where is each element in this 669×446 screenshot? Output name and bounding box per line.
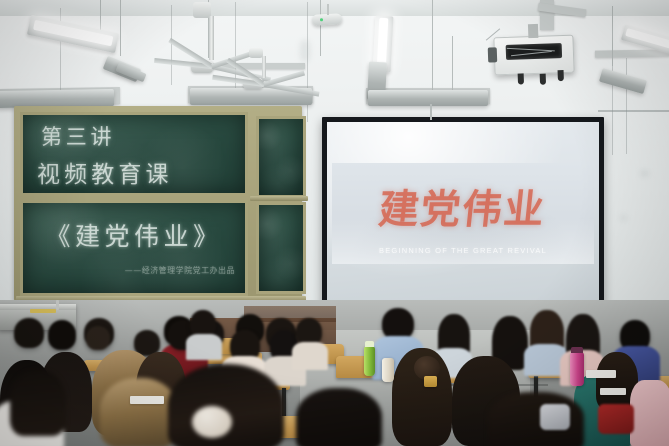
blackboard-title: 《建党伟业》 <box>23 217 245 253</box>
classroom-photo: 第三讲 视频教育课 《建党伟业》 ——经济管理学院党工办出品 建党伟业 BEGI… <box>0 0 669 446</box>
fan-blade <box>263 71 305 87</box>
student-torso <box>630 380 669 446</box>
smoke-detector <box>312 13 343 26</box>
student-head <box>48 320 76 350</box>
light-hanger-wire <box>432 0 433 96</box>
av-box-side <box>488 48 498 63</box>
student-hair-blonde <box>100 378 178 446</box>
blackboard-line-1: 第三讲 <box>23 121 248 151</box>
wall-seam <box>626 58 627 154</box>
student-torso <box>292 342 328 370</box>
notebook[interactable] <box>586 370 616 378</box>
blackboard-panel-upper-right <box>256 116 306 198</box>
student-hair <box>168 364 284 446</box>
blackboard-panel-lower-right <box>256 202 306 294</box>
av-box-knob[interactable] <box>518 73 524 84</box>
wall-seam <box>171 5 172 85</box>
student-hair <box>296 388 382 446</box>
ceiling-beam <box>595 49 669 57</box>
student-head <box>14 318 44 348</box>
wall-seam <box>598 110 669 112</box>
hair-clip <box>424 376 437 387</box>
ceiling-fan <box>222 48 332 108</box>
wall-stain <box>640 170 649 177</box>
table-item <box>30 309 56 313</box>
student-torso <box>186 334 222 360</box>
water-bottle-pink[interactable] <box>570 352 584 386</box>
wall-stain <box>620 215 627 221</box>
chalk-tray <box>250 196 308 201</box>
light-hanger-wire <box>120 0 121 56</box>
notebook[interactable] <box>130 396 164 404</box>
student-hair <box>10 370 66 436</box>
slide-title: 建党伟业 <box>329 177 596 235</box>
blackboard-panel-lower-left: 《建党伟业》 ——经济管理学院党工办出品 <box>20 200 248 296</box>
bottle-cap <box>365 341 374 347</box>
bottle-cap <box>571 347 583 353</box>
screen-hanger <box>430 104 432 120</box>
projection-screen-surface: 建党伟业 BEGINNING OF THE GREAT REVIVAL <box>327 122 599 309</box>
slide-image: 建党伟业 BEGINNING OF THE GREAT REVIVAL <box>332 163 593 264</box>
backpack <box>598 404 634 434</box>
table-item <box>56 300 59 310</box>
fluorescent-light-off <box>368 90 488 106</box>
detector-stem <box>327 4 329 15</box>
hair-scrunchie <box>192 406 232 438</box>
student-head <box>86 326 110 350</box>
light-hanger-wire <box>612 6 613 66</box>
light-hanger-wire <box>100 0 101 30</box>
light-hanger-wire <box>452 36 453 96</box>
slide-subtitle: BEGINNING OF THE GREAT REVIVAL <box>332 246 593 255</box>
av-box-knob[interactable] <box>558 70 564 81</box>
av-control-box[interactable] <box>493 35 574 76</box>
backpack <box>540 404 570 430</box>
projection-screen: 建党伟业 BEGINNING OF THE GREAT REVIVAL <box>322 117 604 314</box>
blackboard-signature: ——经济管理学院党工办出品 <box>125 265 235 276</box>
water-bottle-green[interactable] <box>364 346 375 376</box>
water-bottle-beige[interactable] <box>382 358 394 382</box>
blackboard-panel-upper-left: 第三讲 视频教育课 <box>20 112 248 196</box>
av-box-mount <box>528 24 538 38</box>
av-box-knob[interactable] <box>540 74 546 85</box>
detector-led-icon <box>320 18 323 21</box>
blackboard-line-2: 视频教育课 <box>23 155 248 189</box>
notebook[interactable] <box>600 388 626 395</box>
